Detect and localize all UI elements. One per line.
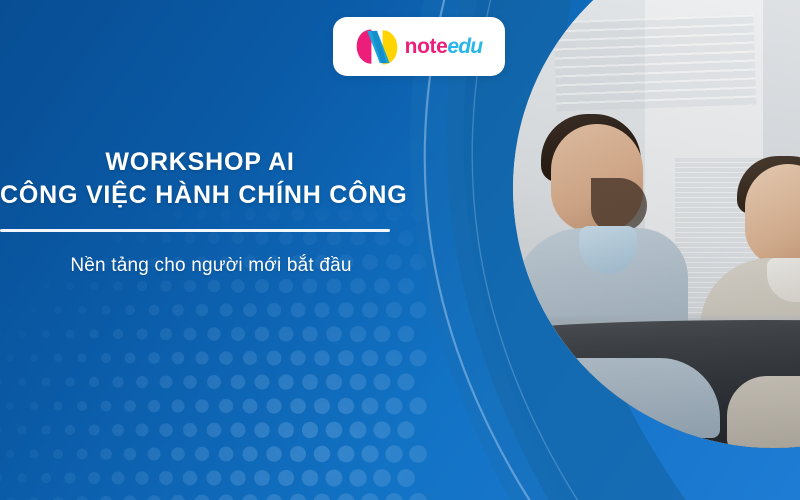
workshop-banner: noteedu WORKSHOP AI CÔNG VIỆC HÀNH CHÍNH… xyxy=(0,0,800,500)
page-title: WORKSHOP AI CÔNG VIỆC HÀNH CHÍNH CÔNG xyxy=(0,146,400,212)
subtitle: Nền tảng cho người mới bắt đầu xyxy=(0,255,422,277)
brand-name-edu: edu xyxy=(447,35,482,58)
brand-name-note: note xyxy=(405,35,448,58)
headline-block: WORKSHOP AI CÔNG VIỆC HÀNH CHÍNH CÔNG xyxy=(0,146,400,212)
brand-wordmark: noteedu xyxy=(405,36,483,57)
headline-divider xyxy=(0,229,390,232)
meeting-photo xyxy=(513,0,800,448)
brand-logo-pill[interactable]: noteedu xyxy=(333,17,505,76)
headline-line-1: WORKSHOP AI xyxy=(105,148,294,176)
headline-line-2: CÔNG VIỆC HÀNH CHÍNH CÔNG xyxy=(0,179,400,212)
noteedu-n-mark-icon xyxy=(356,28,398,66)
